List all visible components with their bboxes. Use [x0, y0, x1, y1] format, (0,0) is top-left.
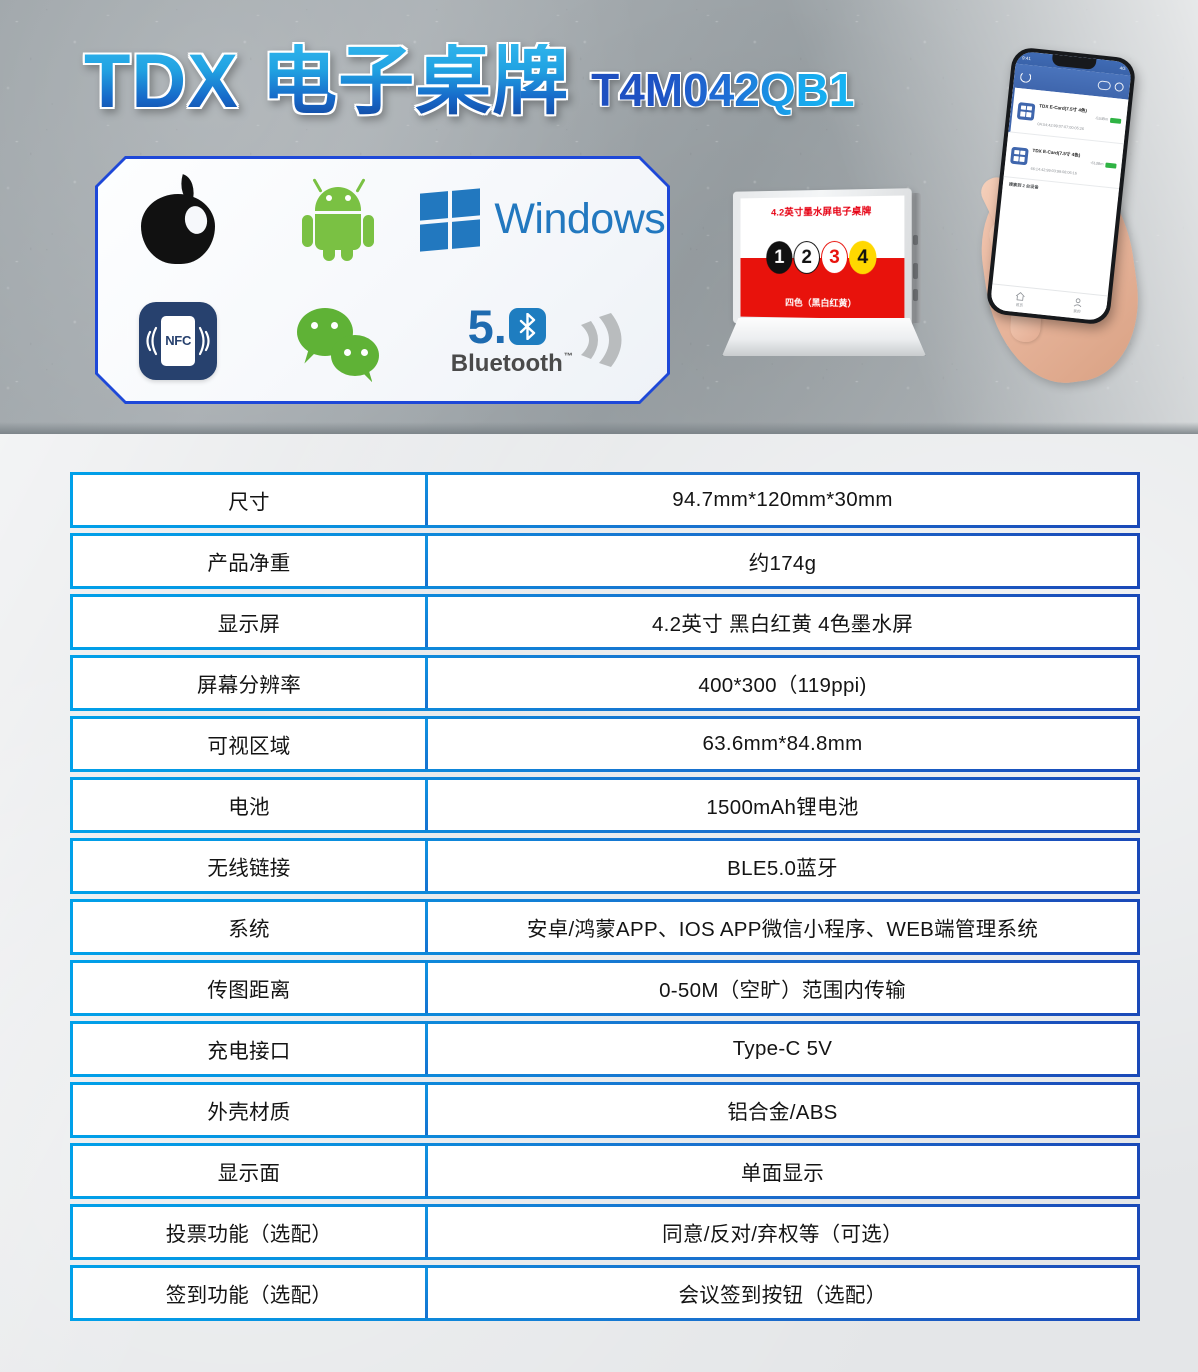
product-device-image: 4.2英寸墨水屏电子桌牌 1 2 3 4 四色（黑白红黄） [722, 190, 932, 365]
tab-label: 我的 [1073, 309, 1081, 315]
bluetooth-logo-icon: 5. Bluetooth™ [451, 303, 635, 377]
signal-arcs-icon [575, 309, 635, 371]
spec-value: 63.6mm*84.8mm [428, 719, 1137, 769]
model-number: T4M042QB1 [591, 67, 854, 120]
person-icon [1072, 297, 1083, 308]
profile-tab[interactable]: 我的 [1072, 297, 1084, 314]
device-mac: 66:14:42:99:03:99:08:06:16 [1030, 167, 1077, 176]
device-number-badges: 1 2 3 4 [741, 241, 905, 275]
phone-screen: 9:41 4G TDX E-Card(7.5寸 4色) 0A [990, 51, 1133, 322]
spec-label: 无线链接 [73, 841, 425, 891]
nfc-icon: NFC [139, 302, 217, 380]
table-row: 签到功能（选配）会议签到按钮（选配） [70, 1265, 1140, 1321]
table-row: 可视区域63.6mm*84.8mm [70, 716, 1140, 772]
specifications-table: 尺寸94.7mm*120mm*30mm产品净重约174g显示屏4.2英寸 黑白红… [70, 472, 1140, 1326]
title-block: TDX 电子桌牌 T4M042QB1 [84, 44, 854, 120]
nfc-label: NFC [165, 333, 191, 348]
device-list: TDX E-Card(7.5寸 4色) 0A:54:42:99:07:07:00… [1002, 87, 1128, 203]
bluetooth-rune-icon [509, 308, 546, 345]
spec-value: 约174g [428, 536, 1137, 586]
table-row: 显示屏4.2英寸 黑白红黄 4色墨水屏 [70, 594, 1140, 650]
home-tab[interactable]: 首页 [1014, 291, 1026, 308]
spec-label: 电池 [73, 780, 425, 830]
table-row: 系统安卓/鸿蒙APP、IOS APP微信小程序、WEB端管理系统 [70, 899, 1140, 955]
refresh-icon[interactable] [1020, 71, 1032, 83]
spec-label: 签到功能（选配） [73, 1268, 425, 1318]
spec-label: 充电接口 [73, 1024, 425, 1074]
spec-value: 4.2英寸 黑白红黄 4色墨水屏 [428, 597, 1137, 647]
bluetooth-version-number: 5. [468, 303, 507, 350]
table-row: 显示面单面显示 [70, 1143, 1140, 1199]
device-rssi: -52dBm [1095, 116, 1109, 121]
specifications-section: 尺寸94.7mm*120mm*30mm产品净重约174g显示屏4.2英寸 黑白红… [0, 434, 1198, 1372]
table-row: 屏幕分辨率400*300（119ppi) [70, 655, 1140, 711]
more-icon[interactable] [1097, 80, 1111, 90]
bluetooth-wordmark: Bluetooth™ [451, 351, 563, 377]
battery-icon [1110, 117, 1121, 123]
table-row: 电池1500mAh锂电池 [70, 777, 1140, 833]
wechat-logo-icon [297, 304, 379, 378]
spec-value: 400*300（119ppi) [428, 658, 1137, 708]
number-badge: 2 [793, 241, 820, 274]
spec-value: 94.7mm*120mm*30mm [428, 475, 1137, 525]
spec-value: BLE5.0蓝牙 [428, 841, 1137, 891]
table-row: 无线链接BLE5.0蓝牙 [70, 838, 1140, 894]
table-row: 外壳材质铝合金/ABS [70, 1082, 1140, 1138]
table-row: 产品净重约174g [70, 533, 1140, 589]
windows-wordmark: Windows [494, 198, 665, 241]
number-badge: 4 [849, 241, 876, 275]
tab-label: 首页 [1015, 303, 1023, 309]
spec-value: 1500mAh锂电池 [428, 780, 1137, 830]
spec-value: Type-C 5V [428, 1024, 1137, 1074]
device-rssi: -61dBm [1090, 161, 1104, 166]
spec-value: 安卓/鸿蒙APP、IOS APP微信小程序、WEB端管理系统 [428, 902, 1137, 952]
status-time: 9:41 [1022, 55, 1031, 61]
apple-logo-icon [141, 176, 215, 264]
device-eink-screen: 4.2英寸墨水屏电子桌牌 1 2 3 4 四色（黑白红黄） [741, 196, 905, 320]
table-row: 投票功能（选配）同意/反对/弃权等（可选） [70, 1204, 1140, 1260]
spec-value: 0-50M（空旷）范围内传输 [428, 963, 1137, 1013]
trademark-mark: ™ [564, 352, 573, 362]
hero-banner: TDX 电子桌牌 T4M042QB1 [0, 0, 1198, 434]
status-network: 4G [1119, 65, 1126, 71]
spec-label: 系统 [73, 902, 425, 952]
nfc-wave-left-icon [144, 324, 159, 358]
device-stand-base [722, 318, 926, 356]
spec-label: 外壳材质 [73, 1085, 425, 1135]
spec-label: 传图距离 [73, 963, 425, 1013]
spec-label: 投票功能（选配） [73, 1207, 425, 1257]
spec-label: 可视区域 [73, 719, 425, 769]
device-screen-title: 4.2英寸墨水屏电子桌牌 [741, 196, 905, 219]
spec-label: 显示屏 [73, 597, 425, 647]
device-frame: 4.2英寸墨水屏电子桌牌 1 2 3 4 四色（黑白红黄） [733, 188, 912, 327]
device-screen-subtitle: 四色（黑白红黄） [741, 295, 905, 310]
spec-value: 同意/反对/弃权等（可选） [428, 1207, 1137, 1257]
phone-in-hand-image: 9:41 4G TDX E-Card(7.5寸 4色) 0A [975, 48, 1175, 388]
spec-label: 尺寸 [73, 475, 425, 525]
hero-bottom-edge [0, 422, 1198, 434]
spec-value: 单面显示 [428, 1146, 1137, 1196]
platform-support-panel: Windows NFC [95, 156, 670, 404]
table-row: 传图距离0-50M（空旷）范围内传输 [70, 960, 1140, 1016]
number-badge: 3 [821, 241, 848, 274]
device-name: TDX E-Card(7.5寸 4色) [1039, 103, 1087, 113]
spec-value: 铝合金/ABS [428, 1085, 1137, 1135]
device-mac: 0A:54:42:99:07:07:00:05:26 [1037, 122, 1084, 131]
spec-label: 显示面 [73, 1146, 425, 1196]
home-icon [1015, 291, 1026, 302]
device-thumb-icon [1017, 102, 1036, 121]
android-logo-icon [302, 179, 374, 261]
device-name: TDX E-Card(7.5寸 4色) [1032, 148, 1080, 158]
table-row: 尺寸94.7mm*120mm*30mm [70, 472, 1140, 528]
page-title: TDX 电子桌牌 [84, 44, 569, 120]
nfc-wave-right-icon [197, 324, 212, 358]
battery-icon [1105, 162, 1116, 168]
device-thumb-icon [1010, 146, 1029, 165]
spec-label: 产品净重 [73, 536, 425, 586]
gear-icon[interactable] [1114, 82, 1124, 92]
spec-value: 会议签到按钮（选配） [428, 1268, 1137, 1318]
number-badge: 1 [766, 241, 792, 274]
table-row: 充电接口Type-C 5V [70, 1021, 1140, 1077]
spec-label: 屏幕分辨率 [73, 658, 425, 708]
windows-logo-icon: Windows [420, 191, 665, 249]
